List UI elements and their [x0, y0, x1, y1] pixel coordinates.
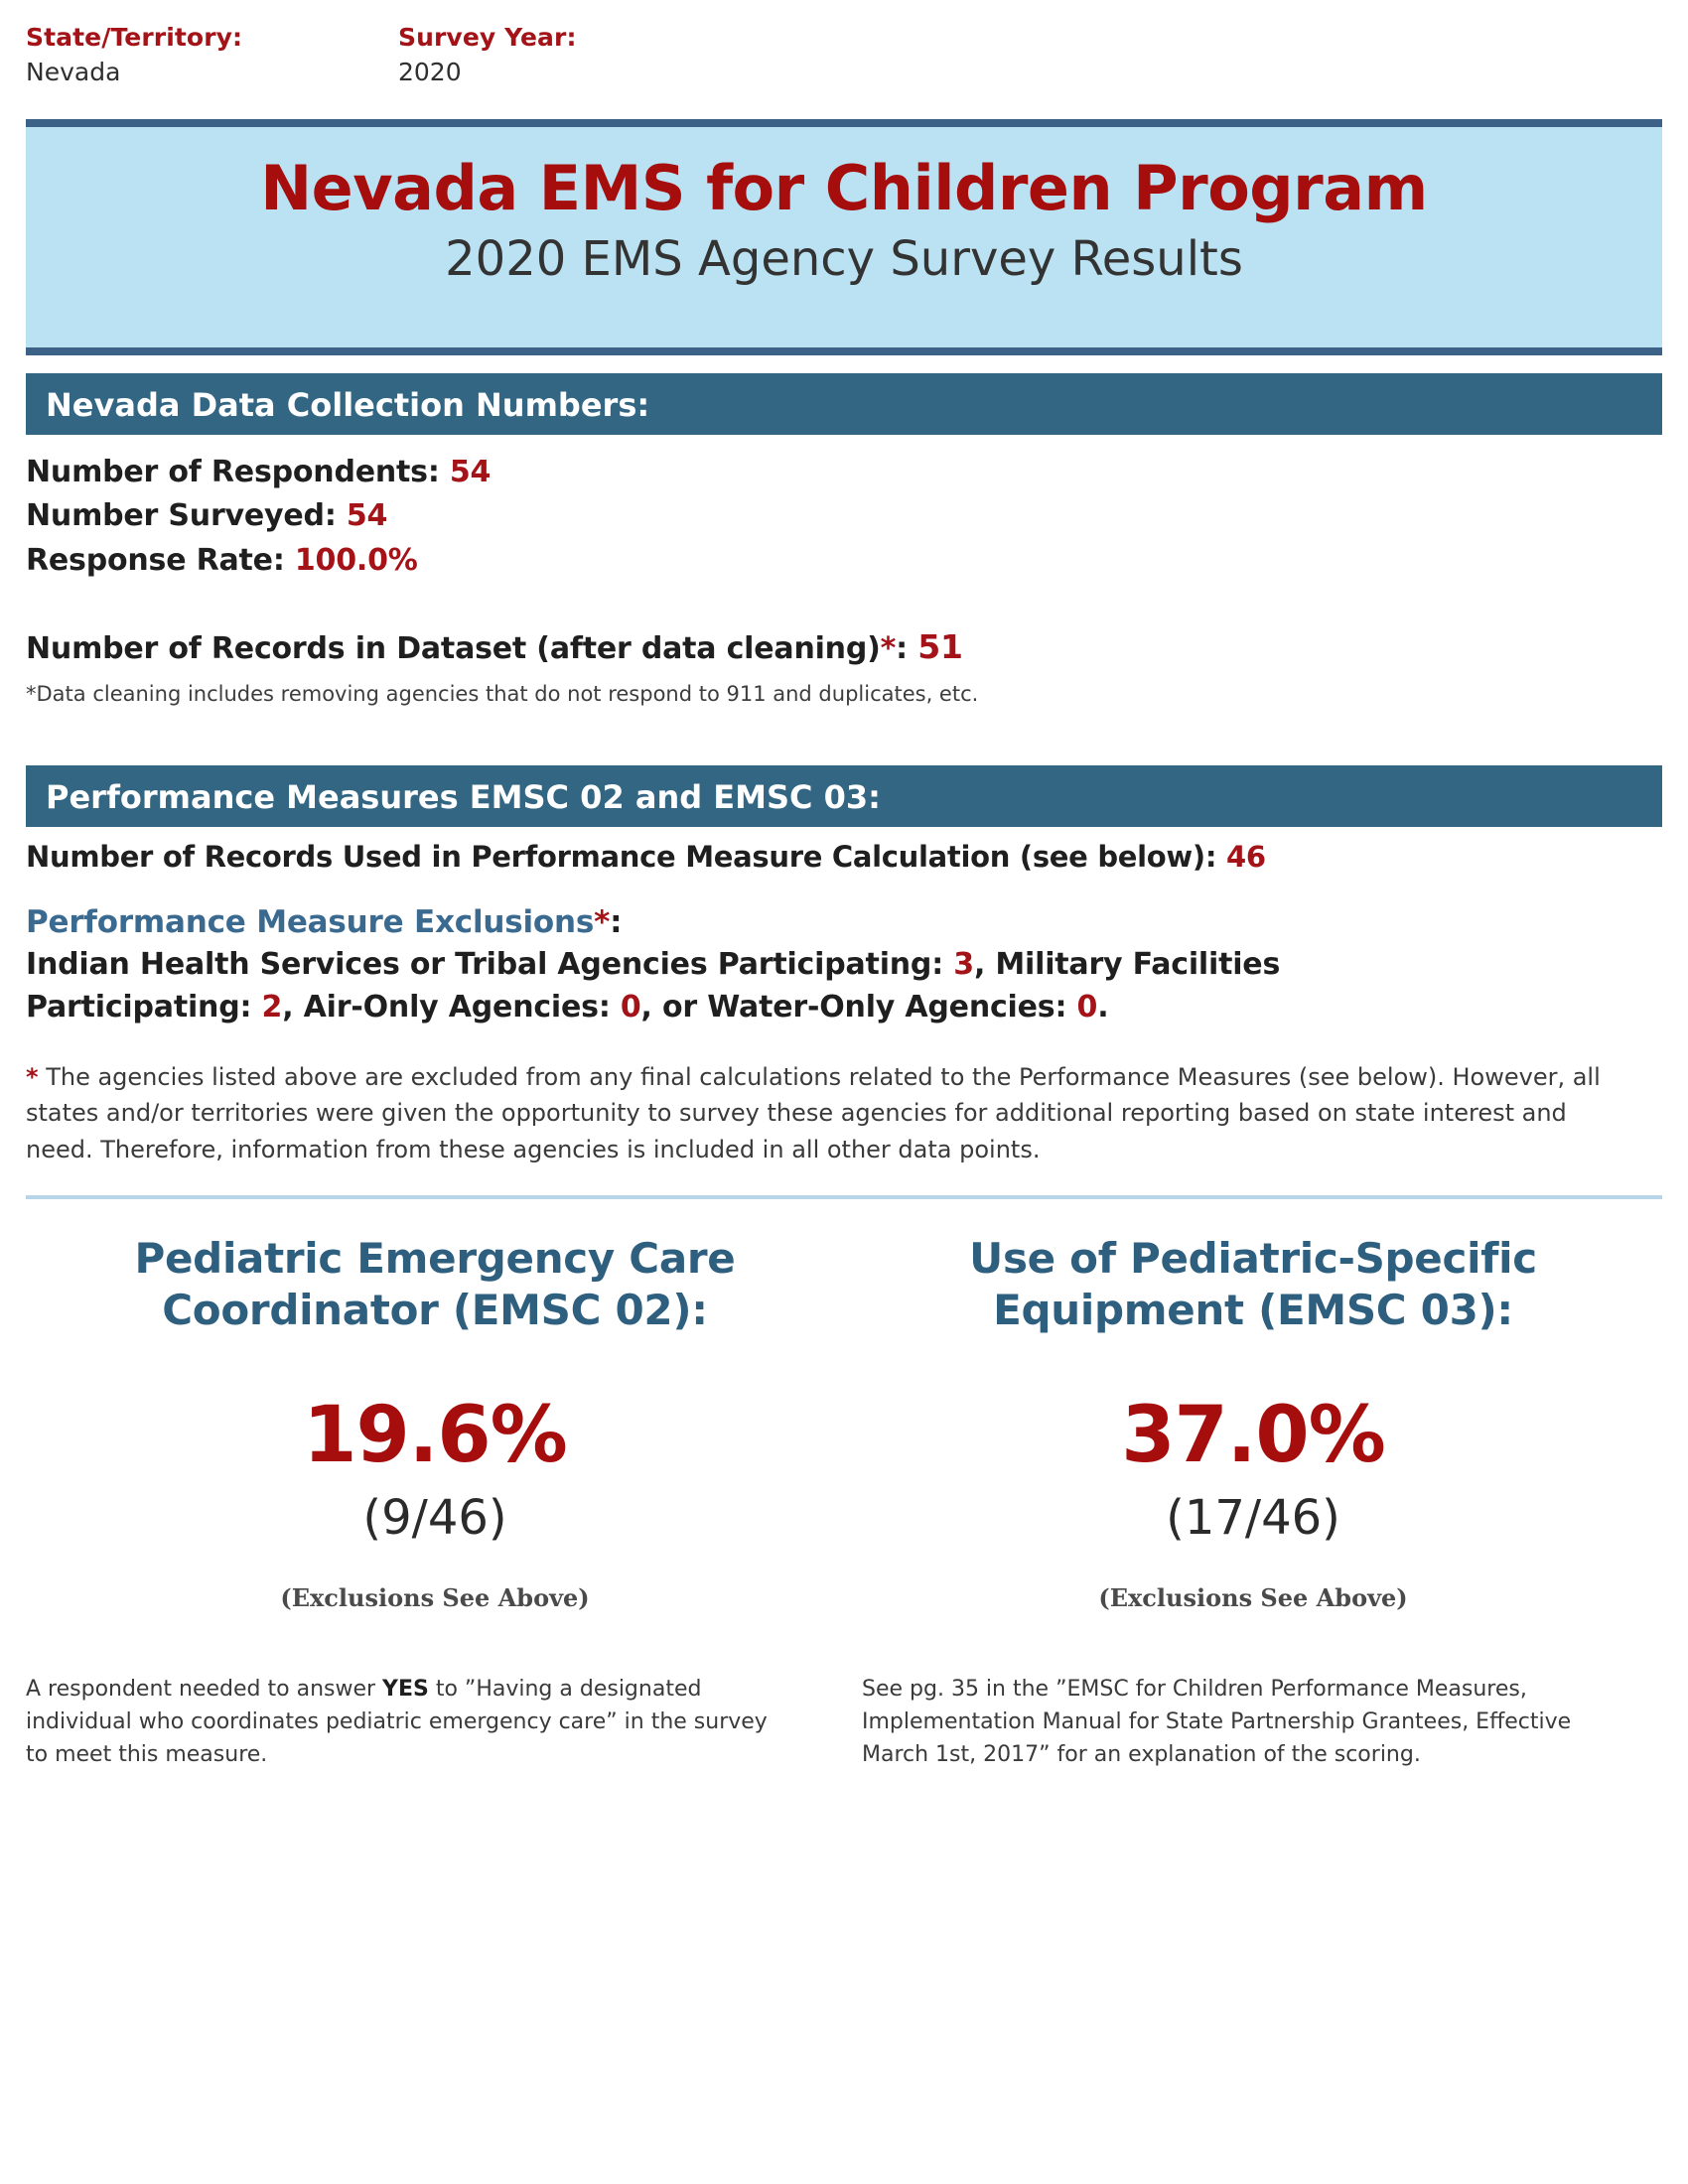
survey-results-page: State/Territory: Nevada Survey Year: 202…	[0, 0, 1688, 2184]
emsc-03-footnote-text: See pg. 35 in the ”EMSC for Children Per…	[862, 1677, 1571, 1767]
records-used-line: Number of Records Used in Performance Me…	[26, 827, 1662, 878]
stat-surveyed-label: Number Surveyed:	[26, 498, 347, 533]
title-banner: Nevada EMS for Children Program 2020 EMS…	[26, 119, 1662, 355]
measure-emsc-02-title: Pediatric Emergency Care Coordinator (EM…	[56, 1233, 814, 1335]
exclusions-explanatory-note: * The agencies listed above are excluded…	[26, 1059, 1639, 1167]
excl-water-label: , or Water-Only Agencies:	[641, 990, 1077, 1024]
stat-respondents-value: 54	[450, 455, 491, 489]
state-territory-label: State/Territory:	[26, 22, 242, 53]
stat-response-rate-label: Response Rate:	[26, 543, 295, 578]
records-asterisk: *	[881, 631, 897, 666]
section-header-performance-measures: Performance Measures EMSC 02 and EMSC 03…	[26, 765, 1662, 827]
stat-response-rate: Response Rate: 100.0%	[26, 539, 1662, 583]
records-label-text: Number of Records in Dataset (after data…	[26, 631, 881, 666]
measure-emsc-02-footnote: A respondent needed to answer YES to ”Ha…	[26, 1673, 844, 1771]
measure-emsc-02-exclusions-note: (Exclusions See Above)	[56, 1545, 814, 1613]
stat-response-rate-value: 100.0%	[295, 543, 418, 578]
meta-row: State/Territory: Nevada Survey Year: 202…	[26, 0, 1662, 119]
excl-mil-value: 2	[262, 990, 283, 1024]
measure-emsc-02: Pediatric Emergency Care Coordinator (EM…	[26, 1233, 844, 1613]
excl-ihs-label: Indian Health Services or Tribal Agencie…	[26, 947, 953, 982]
stat-records-in-dataset: Number of Records in Dataset (after data…	[26, 624, 1662, 670]
state-territory-block: State/Territory: Nevada	[26, 22, 242, 89]
measure-emsc-03: Use of Pediatric-Specific Equipment (EMS…	[844, 1233, 1662, 1613]
stat-surveyed-value: 54	[347, 498, 387, 533]
survey-year-block: Survey Year: 2020	[398, 22, 577, 89]
measure-emsc-03-fraction: (17/46)	[874, 1474, 1632, 1545]
excl-water-value: 0	[1077, 990, 1098, 1024]
measure-emsc-03-footnote: See pg. 35 in the ”EMSC for Children Per…	[844, 1673, 1662, 1771]
stat-respondents: Number of Respondents: 54	[26, 451, 1662, 494]
exclusions-note-text: The agencies listed above are excluded f…	[26, 1063, 1601, 1163]
page-subtitle: 2020 EMS Agency Survey Results	[36, 223, 1652, 289]
exclusions-heading: Performance Measure Exclusions*:	[26, 902, 1662, 942]
exclusions-note-asterisk: *	[26, 1063, 39, 1091]
emsc-02-footnote-pre: A respondent needed to answer	[26, 1677, 382, 1702]
records-value: 51	[917, 627, 963, 666]
measure-emsc-03-exclusions-note: (Exclusions See Above)	[874, 1545, 1632, 1613]
excl-period: .	[1097, 990, 1108, 1024]
bottom-notes-row: A respondent needed to answer YES to ”Ha…	[26, 1613, 1662, 1771]
exclusions-body: Indian Health Services or Tribal Agencie…	[26, 943, 1376, 1029]
records-used-label: Number of Records Used in Performance Me…	[26, 840, 1226, 874]
measure-emsc-03-percent: 37.0%	[874, 1335, 1632, 1474]
stat-surveyed: Number Surveyed: 54	[26, 494, 1662, 538]
survey-year-label: Survey Year:	[398, 22, 577, 53]
records-colon: :	[896, 631, 917, 666]
emsc-02-footnote-yes: YES	[382, 1677, 429, 1702]
excl-air-label: , Air-Only Agencies:	[282, 990, 621, 1024]
records-footnote: *Data cleaning includes removing agencie…	[26, 670, 1662, 709]
excl-air-value: 0	[621, 990, 641, 1024]
exclusions-heading-asterisk: *	[594, 904, 610, 940]
records-used-value: 46	[1226, 840, 1266, 874]
excl-ihs-value: 3	[953, 947, 974, 982]
measure-emsc-02-fraction: (9/46)	[56, 1474, 814, 1545]
measures-row: Pediatric Emergency Care Coordinator (EM…	[26, 1199, 1662, 1613]
page-title: Nevada EMS for Children Program	[36, 147, 1652, 223]
section-header-data-collection: Nevada Data Collection Numbers:	[26, 373, 1662, 435]
stat-respondents-label: Number of Respondents:	[26, 455, 450, 489]
survey-year-value: 2020	[398, 53, 577, 89]
measure-emsc-03-title: Use of Pediatric-Specific Equipment (EMS…	[874, 1233, 1632, 1335]
measure-emsc-02-percent: 19.6%	[56, 1335, 814, 1474]
exclusions-heading-colon: :	[610, 904, 622, 940]
state-territory-value: Nevada	[26, 53, 242, 89]
exclusions-heading-text: Performance Measure Exclusions	[26, 904, 594, 940]
